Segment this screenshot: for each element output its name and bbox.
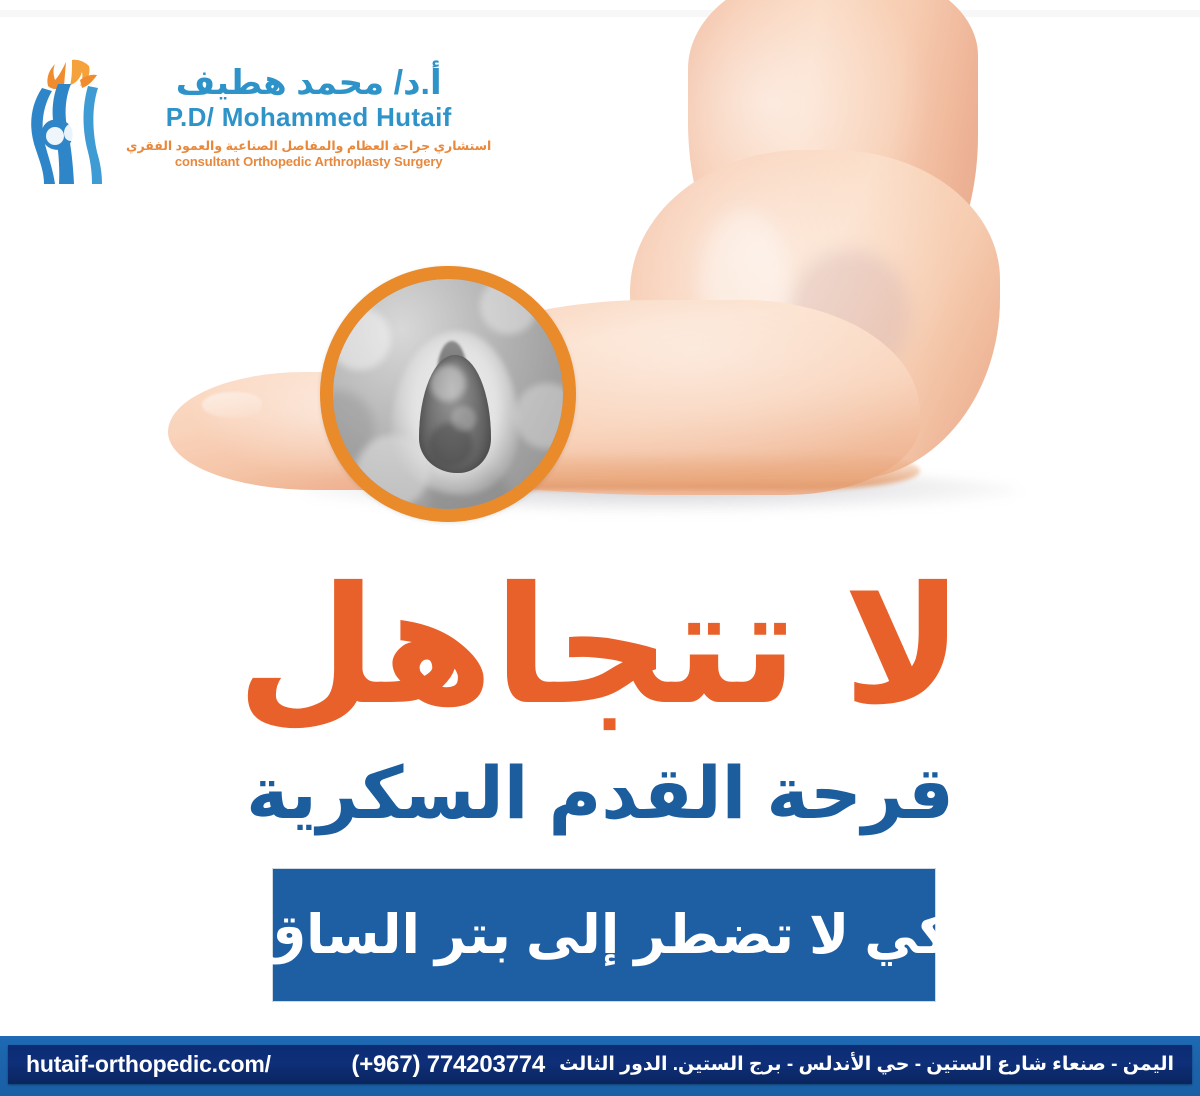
footer: hutaif-orthopedic.com/ (+967) 774203774 …	[0, 1036, 1200, 1096]
warning-banner: كي لا تضطر إلى بتر الساق	[272, 868, 936, 1002]
ulcer-callus-texture	[333, 279, 563, 509]
warning-banner-text: كي لا تضطر إلى بتر الساق	[258, 908, 951, 962]
footer-address: اليمن - صنعاء شارع الستين - حي الأندلس -…	[559, 1053, 1174, 1076]
footer-website-link[interactable]: hutaif-orthopedic.com/	[26, 1051, 271, 1078]
poster-canvas: أ.د/ محمد هطيف P.D/ Mohammed Hutaif استش…	[0, 0, 1200, 1096]
toenail-highlight	[202, 392, 262, 418]
footer-contact-group: (+967) 774203774 اليمن - صنعاء شارع الست…	[351, 1051, 1174, 1079]
subheadline: قرحة القدم السكرية	[0, 758, 1200, 830]
footer-contact-bar: hutaif-orthopedic.com/ (+967) 774203774 …	[8, 1045, 1192, 1084]
diabetic-foot-side-view-image	[0, 0, 1200, 560]
headline: لا تتجاهل	[0, 566, 1200, 728]
ulcer-closeup-circle	[320, 266, 576, 522]
footer-phone-number[interactable]: (+967) 774203774	[351, 1051, 545, 1079]
